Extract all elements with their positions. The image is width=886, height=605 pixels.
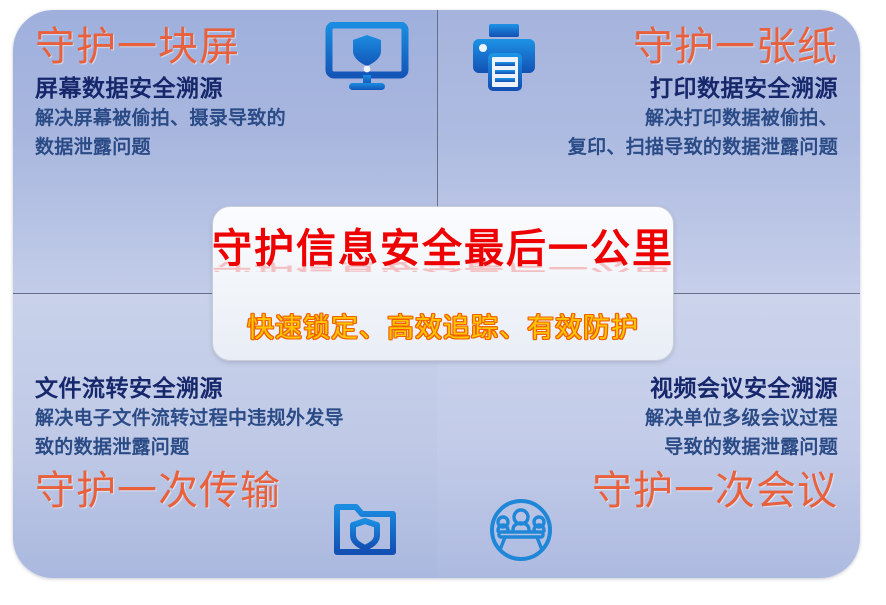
quadrant-meeting-title: 视频会议安全溯源	[459, 372, 839, 404]
quadrant-screen-description: 解决屏幕被偷拍、摄录导致的 数据泄露问题	[35, 104, 415, 162]
callout-title: 守护信息安全最后一公里	[212, 226, 674, 272]
quadrant-meeting-desc-line-2: 导致的数据泄露问题	[459, 433, 839, 462]
quadrant-meeting-headline: 守护一次会议	[592, 466, 838, 516]
quadrant-transfer-headline: 守护一次传输	[35, 466, 281, 516]
meeting-people-icon	[487, 497, 555, 568]
quadrant-print-desc-line-1: 解决打印数据被偷拍、	[459, 104, 839, 133]
folder-shield-icon	[332, 497, 398, 564]
quadrant-meeting-desc-line-1: 解决单位多级会议过程	[459, 404, 839, 433]
center-callout: 守护信息安全最后一公里 守护信息安全最后一公里 快速锁定、高效追踪、有效防护	[212, 206, 674, 361]
quadrant-screen-headline: 守护一块屏	[35, 22, 240, 72]
quadrant-screen-desc-line-2: 数据泄露问题	[35, 133, 415, 162]
quadrant-print-desc-line-2: 复印、扫描导致的数据泄露问题	[459, 133, 839, 162]
quadrant-meeting-description: 解决单位多级会议过程 导致的数据泄露问题	[459, 404, 839, 462]
monitor-shield-icon	[325, 22, 409, 97]
quadrant-transfer-description: 解决电子文件流转过程中违规外发导 致的数据泄露问题	[35, 404, 415, 462]
callout-subtitle: 快速锁定、高效追踪、有效防护	[247, 306, 639, 345]
quadrant-print-headline: 守护一张纸	[633, 22, 838, 72]
quadrant-print-description: 解决打印数据被偷拍、 复印、扫描导致的数据泄露问题	[459, 104, 839, 162]
quadrant-transfer-title: 文件流转安全溯源	[35, 372, 415, 404]
quadrant-screen-desc-line-1: 解决屏幕被偷拍、摄录导致的	[35, 104, 415, 133]
printer-icon	[463, 22, 543, 97]
quadrant-transfer-desc-line-2: 致的数据泄露问题	[35, 433, 415, 462]
quadrant-transfer-desc-line-1: 解决电子文件流转过程中违规外发导	[35, 404, 415, 433]
